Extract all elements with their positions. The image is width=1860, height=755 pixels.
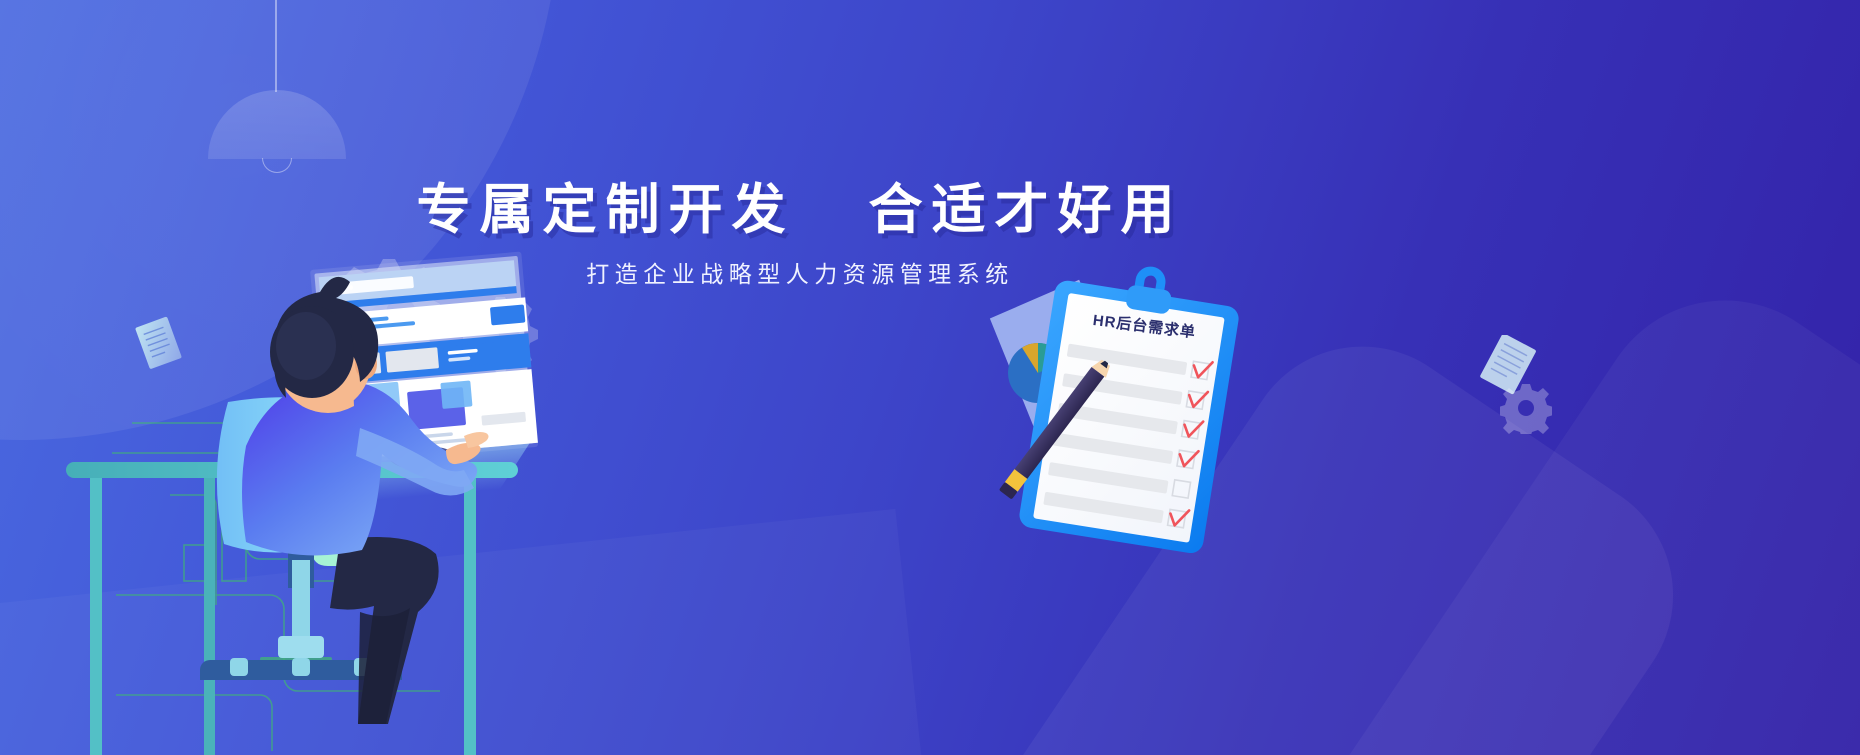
developer-at-desk-illustration bbox=[60, 240, 580, 755]
hr-requirements-clipboard-illustration: HR后台需求单 bbox=[980, 255, 1300, 555]
gear-icon bbox=[1500, 382, 1552, 434]
promo-banner: HR后台需求单 bbox=[0, 0, 1860, 755]
lamp-cord bbox=[275, 0, 277, 92]
page-subtitle: 打造企业战略型人力资源管理系统 bbox=[0, 255, 1600, 289]
headline-part-2: 合适才好用 bbox=[869, 180, 1184, 240]
page-title: 专属定制开发 合适才好用 bbox=[0, 182, 1600, 239]
headline-part-1: 专属定制开发 bbox=[416, 180, 794, 240]
document-icon bbox=[135, 316, 182, 369]
